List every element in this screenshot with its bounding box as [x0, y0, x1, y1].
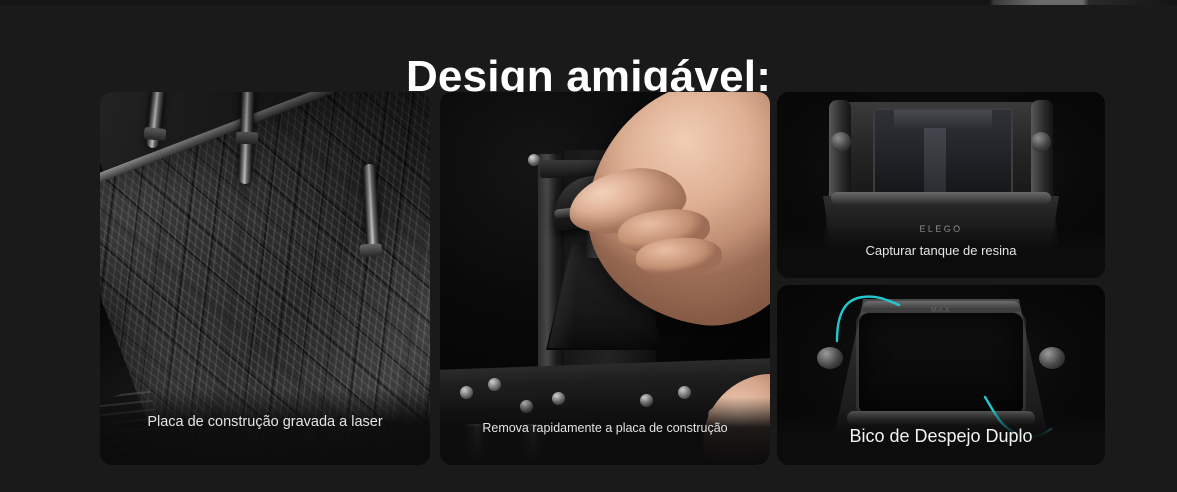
feature-panel-resin-tank[interactable]: ELEGO Capturar tanque de resina — [777, 92, 1105, 278]
page-top-edge — [0, 0, 1177, 5]
vat-knob-left — [817, 347, 843, 369]
panel-caption: Bico de Despejo Duplo — [777, 409, 1105, 465]
feature-panel-dual-pour-spout[interactable]: MAX Bico de Despejo Duplo — [777, 285, 1105, 465]
tank-knob-right — [1031, 132, 1051, 152]
panel-caption: Capturar tanque de resina — [777, 226, 1105, 278]
panel-caption: Placa de construção gravada a laser — [100, 389, 430, 465]
feature-panel-laser-engraved-build-plate[interactable]: Placa de construção gravada a laser — [100, 92, 430, 465]
tank-interior-window — [873, 108, 1013, 194]
pour-spout-highlight-top-left — [833, 291, 903, 343]
tank-knob-left — [831, 132, 851, 152]
base-bolt — [488, 378, 501, 391]
feature-panel-quick-release-build-plate[interactable]: Remova rapidamente a placa de construção — [440, 92, 770, 465]
tank-lip — [831, 192, 1051, 204]
vat-knob-right — [1039, 347, 1065, 369]
housing-screw — [528, 154, 540, 166]
vat-max-label: MAX — [777, 307, 1105, 314]
panel-caption: Remova rapidamente a placa de construção — [440, 397, 770, 465]
